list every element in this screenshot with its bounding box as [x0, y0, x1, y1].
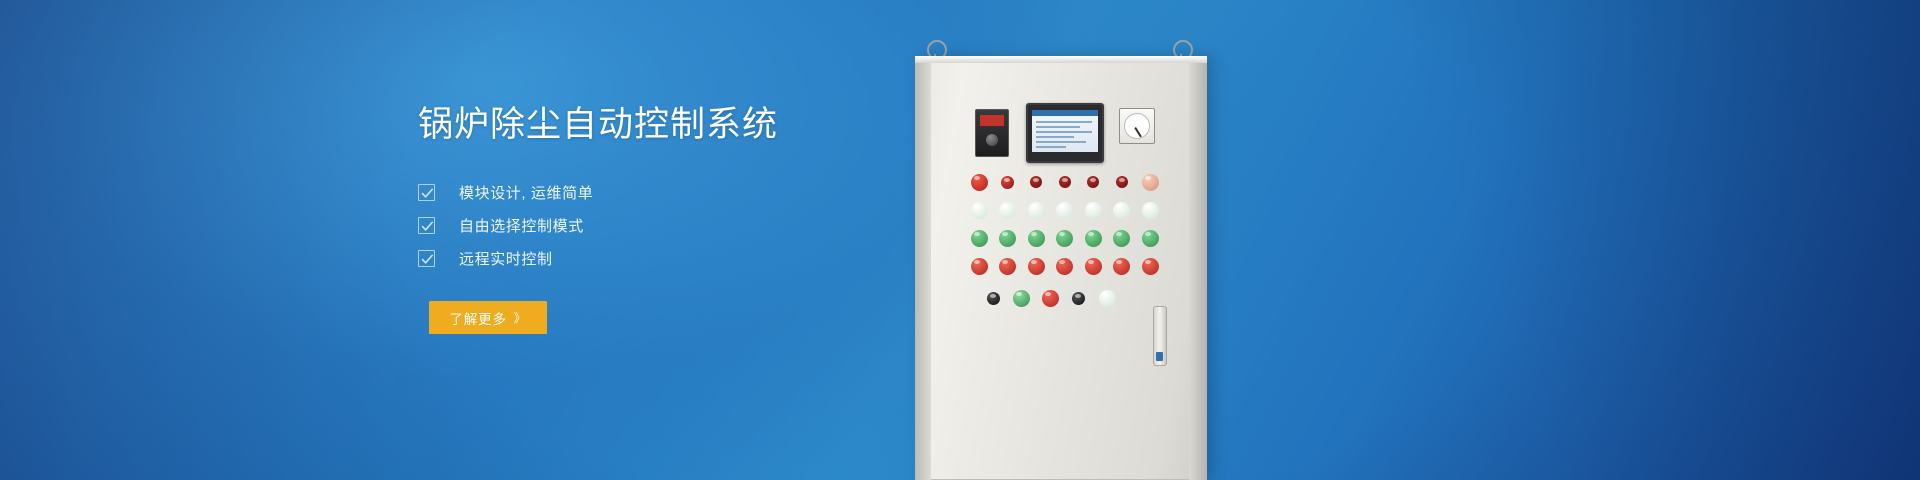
hmi-title-bar: [1032, 110, 1098, 116]
indicator-light[interactable]: [999, 230, 1016, 247]
hero-copy-block: 锅炉除尘自动控制系统 模块设计, 运维简单 自由选择控制模式: [418, 104, 978, 334]
indicator-light[interactable]: [1113, 258, 1130, 275]
indicator-light[interactable]: [1028, 258, 1045, 275]
indicator-light[interactable]: [1013, 290, 1030, 307]
gauge-dial: [1124, 113, 1150, 139]
hmi-screen-surface: [1032, 110, 1098, 152]
gauge-needle-icon: [1134, 127, 1141, 137]
product-photo-control-cabinet: [905, 0, 1405, 480]
list-item: 远程实时控制: [418, 242, 978, 275]
checkbox-check-icon: [418, 250, 435, 267]
selector-switch[interactable]: [987, 292, 1000, 305]
indicator-light[interactable]: [1085, 202, 1102, 219]
indicator-light[interactable]: [1116, 176, 1128, 188]
indicator-light[interactable]: [999, 258, 1016, 275]
feature-label: 远程实时控制: [459, 248, 553, 269]
indicator-light[interactable]: [1142, 202, 1159, 219]
feature-label: 模块设计, 运维简单: [459, 182, 593, 203]
cabinet-door-handle[interactable]: [1153, 306, 1167, 366]
checkbox-check-icon: [418, 184, 435, 201]
indicator-light[interactable]: [1085, 258, 1102, 275]
indicator-light[interactable]: [1028, 230, 1045, 247]
indicator-light[interactable]: [1056, 258, 1073, 275]
digital-display-meter: [975, 109, 1009, 157]
indicator-light[interactable]: [1087, 176, 1099, 188]
selector-switch[interactable]: [1072, 292, 1085, 305]
indicator-row-green: [965, 224, 1165, 252]
learn-more-label: 了解更多: [449, 308, 506, 328]
analog-gauge: [1119, 108, 1155, 144]
indicator-light[interactable]: [1028, 202, 1045, 219]
indicator-light[interactable]: [1056, 202, 1073, 219]
indicator-light[interactable]: [1056, 230, 1073, 247]
meter-display-segment: [980, 115, 1004, 126]
indicator-button-panel: [965, 168, 1165, 312]
indicator-light[interactable]: [1059, 176, 1071, 188]
indicator-light[interactable]: [1085, 230, 1102, 247]
indicator-light[interactable]: [1142, 174, 1159, 191]
feature-label: 自由选择控制模式: [459, 215, 584, 236]
cabinet-right-edge: [1189, 56, 1207, 480]
list-item: 自由选择控制模式: [418, 209, 978, 242]
indicator-light[interactable]: [1113, 230, 1130, 247]
page-title: 锅炉除尘自动控制系统: [418, 104, 978, 146]
hmi-touch-screen: [1026, 103, 1104, 163]
indicator-light[interactable]: [1113, 202, 1130, 219]
hero-banner: 锅炉除尘自动控制系统 模块设计, 运维简单 自由选择控制模式: [0, 0, 1920, 480]
indicator-light[interactable]: [1042, 290, 1059, 307]
indicator-light[interactable]: [971, 202, 988, 219]
meter-knob-icon: [986, 134, 998, 146]
indicator-light[interactable]: [999, 202, 1016, 219]
emergency-stop-button[interactable]: [971, 174, 988, 191]
indicator-light[interactable]: [1001, 176, 1014, 189]
indicator-row-red: [965, 252, 1165, 280]
indicator-light[interactable]: [1142, 230, 1159, 247]
indicator-row-white: [965, 196, 1165, 224]
selector-switch-row: [979, 284, 1165, 312]
feature-list: 模块设计, 运维简单 自由选择控制模式 远程实时控制: [418, 176, 978, 275]
learn-more-button[interactable]: 了解更多 》: [429, 301, 547, 334]
indicator-light[interactable]: [971, 258, 988, 275]
indicator-light[interactable]: [1030, 176, 1042, 188]
cabinet-left-edge: [915, 56, 931, 480]
checkbox-check-icon: [418, 217, 435, 234]
chevron-double-right-icon: 》: [514, 309, 527, 326]
list-item: 模块设计, 运维简单: [418, 176, 978, 209]
indicator-light[interactable]: [971, 230, 988, 247]
indicator-light[interactable]: [1142, 258, 1159, 275]
lock-icon: [1156, 352, 1163, 361]
indicator-light[interactable]: [1099, 290, 1116, 307]
cabinet-top-edge: [915, 56, 1207, 63]
mushroom-button-row: [965, 168, 1165, 196]
